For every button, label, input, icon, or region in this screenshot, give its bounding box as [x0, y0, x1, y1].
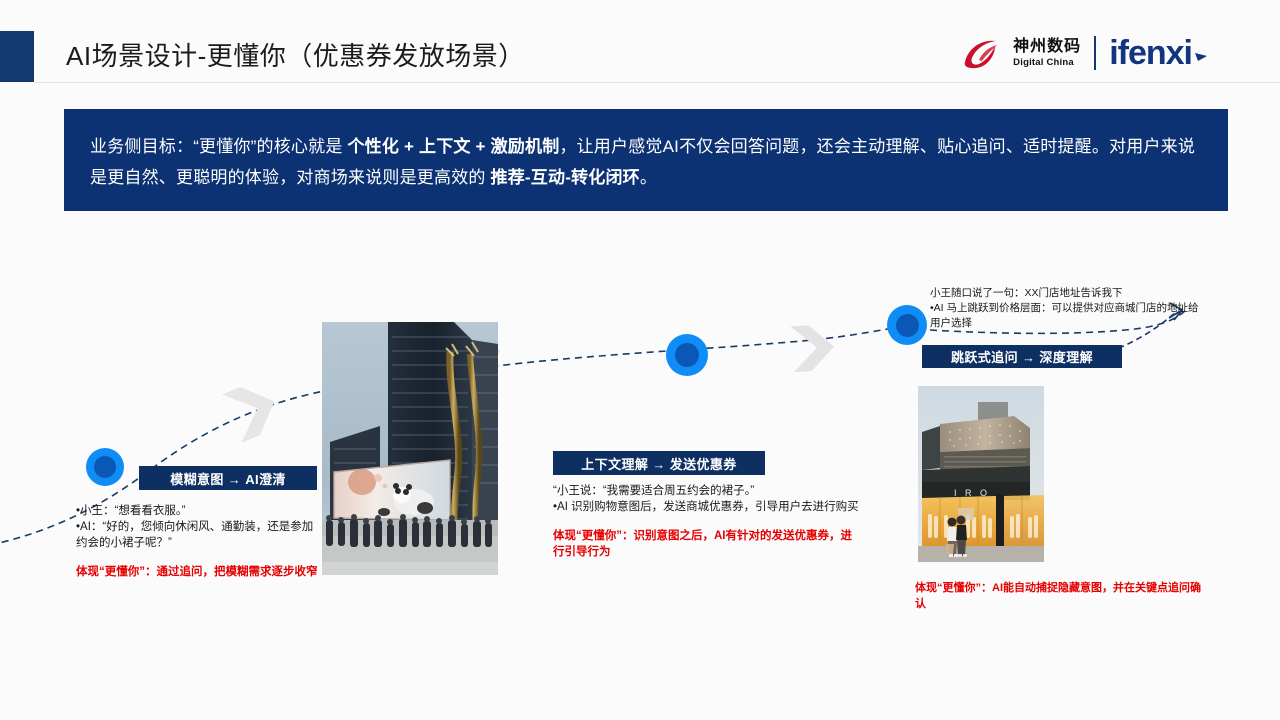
- flow-node-1-core: [94, 456, 116, 478]
- photo-iro-store: I R O: [918, 386, 1044, 562]
- step-2-text: “小王说：“我需要适合周五约会的裙子。” •AI 识别购物意图后，发送商城优惠券…: [553, 483, 863, 560]
- flow-node-3[interactable]: [887, 305, 927, 345]
- page-title: AI场景设计-更懂你（优惠券发放场景）: [66, 36, 525, 73]
- ifenxi-text: ifenxi: [1109, 34, 1192, 72]
- logo-separator: [1094, 36, 1096, 70]
- step-3-text: 小王随口说了一句：XX门店地址告诉我下 •AI 马上跳跃到价格层面：可以提供对应…: [930, 286, 1202, 331]
- header-divider: [34, 82, 1280, 83]
- digital-china-logo: 神州数码 Digital China: [962, 36, 1081, 70]
- flow-chevron-3-icon: [788, 321, 837, 374]
- banner-bold-2: 推荐-互动-转化闭环: [491, 168, 640, 187]
- brand-name-en: Digital China: [1013, 58, 1081, 68]
- step-1-highlight: 体现“更懂你”：通过追问，把模糊需求逐步收窄: [76, 564, 324, 580]
- step-3-label: 跳跃式追问 → 深度理解: [922, 345, 1122, 368]
- flow-node-2-core: [675, 343, 699, 367]
- step-3-bullet-2: •AI 马上跳跃到价格层面：可以提供对应商城门店的地址给用户选择: [930, 301, 1202, 331]
- step-1-label: 模糊意图 → AI澄清: [139, 466, 317, 490]
- objective-banner: 业务侧目标：“更懂你”的核心就是 个性化 + 上下文 + 激励机制，让用户感觉A…: [64, 109, 1228, 211]
- step-3-highlight: 体现“更懂你”：AI能自动捕捉隐藏意图，并在关键点追问确认: [915, 580, 1205, 612]
- flow-node-1[interactable]: [86, 448, 124, 486]
- digital-china-wordmark: 神州数码 Digital China: [1013, 39, 1081, 68]
- step-1-text: •小王：“想看看衣服。” •AI：“好的，您倾向休闲风、通勤装，还是参加约会的小…: [76, 503, 324, 580]
- ifenxi-wordmark: ifenxi: [1109, 34, 1208, 73]
- brand-name-cn: 神州数码: [1013, 39, 1081, 55]
- objective-banner-text: 业务侧目标：“更懂你”的核心就是 个性化 + 上下文 + 激励机制，让用户感觉A…: [90, 131, 1202, 193]
- step-3-highlight-wrap: 体现“更懂你”：AI能自动捕捉隐藏意图，并在关键点追问确认: [915, 580, 1205, 612]
- flow-chevron-1-icon: [219, 375, 286, 446]
- step-2-bullet-2: •AI 识别购物意图后，发送商城优惠券，引导用户去进行购买: [553, 499, 863, 515]
- banner-prefix: 业务侧目标：“更懂你”的核心就是: [90, 137, 347, 156]
- header-accent-block: [0, 31, 34, 82]
- ifenxi-flag-icon: [1194, 36, 1208, 75]
- flow-node-3-core: [896, 314, 919, 337]
- photo-city-billboard: [322, 322, 498, 575]
- step-2-label: 上下文理解 → 发送优惠券: [553, 451, 765, 475]
- digital-china-swoosh-icon: [962, 36, 1006, 70]
- step-3-bullet-1: 小王随口说了一句：XX门店地址告诉我下: [930, 286, 1202, 301]
- slide-root: AI场景设计-更懂你（优惠券发放场景） 神州数码 Digital China i…: [0, 0, 1280, 720]
- step-2-highlight: 体现“更懂你”：识别意图之后，AI有针对的发送优惠券，进行引导行为: [553, 528, 863, 560]
- step-1-bullet-2: •AI：“好的，您倾向休闲风、通勤装，还是参加约会的小裙子呢？”: [76, 519, 324, 551]
- logo-lockup: 神州数码 Digital China ifenxi: [962, 30, 1208, 76]
- step-1-bullet-1: •小王：“想看看衣服。”: [76, 503, 324, 519]
- flow-node-2[interactable]: [666, 334, 708, 376]
- banner-suffix: 。: [640, 168, 657, 187]
- step-2-bullet-1: “小王说：“我需要适合周五约会的裙子。”: [553, 483, 863, 499]
- banner-bold-1: 个性化 + 上下文 + 激励机制: [347, 137, 559, 156]
